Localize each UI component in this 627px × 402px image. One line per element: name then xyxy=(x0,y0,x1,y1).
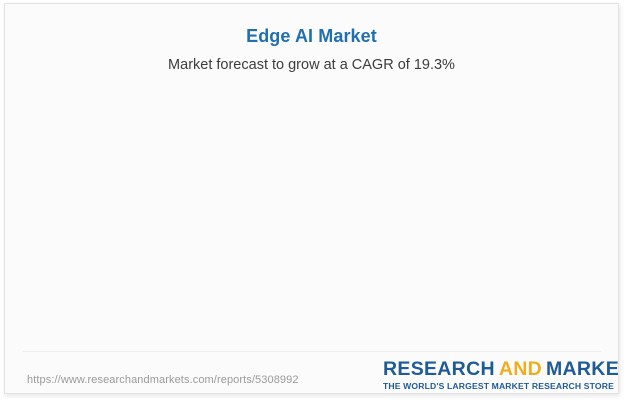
chart-plot-area: USD 569.19 million xyxy=(5,4,619,352)
logo-word-and: AND xyxy=(499,358,542,380)
logo-word-markets: MARKETS xyxy=(546,358,619,380)
chart-card: Edge AI Market Market forecast to grow a… xyxy=(4,3,619,394)
footer-divider xyxy=(23,351,601,352)
source-url[interactable]: https://www.researchandmarkets.com/repor… xyxy=(27,374,299,386)
logo-word-research: RESEARCH xyxy=(383,358,495,380)
logo-wordmark: RESEARCHANDMARKETS xyxy=(383,359,595,379)
research-and-markets-logo[interactable]: RESEARCHANDMARKETS THE WORLD'S LARGEST M… xyxy=(383,359,595,391)
logo-tagline: THE WORLD'S LARGEST MARKET RESEARCH STOR… xyxy=(383,381,595,391)
